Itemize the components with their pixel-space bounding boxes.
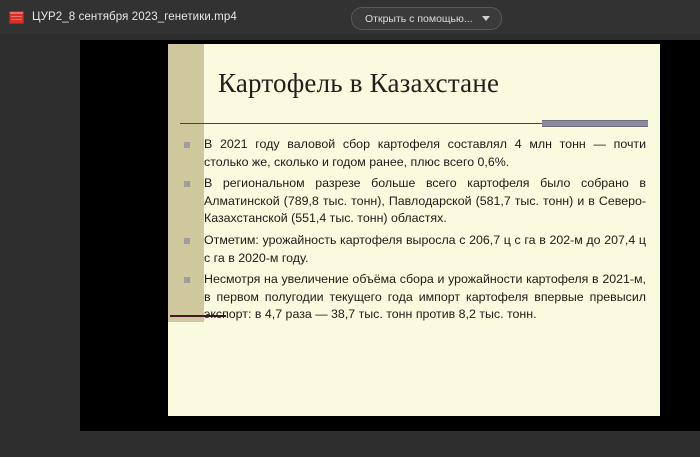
bullet-marker-icon — [184, 142, 190, 148]
presentation-slide: Картофель в Казахстане В 2021 году валов… — [168, 44, 660, 416]
video-stage[interactable]: Картофель в Казахстане В 2021 году валов… — [80, 40, 700, 431]
file-name-label: ЦУР2_8 сентября 2023_генетики.mp4 — [32, 11, 237, 23]
file-chip: ЦУР2_8 сентября 2023_генетики.mp4 — [9, 11, 237, 24]
title-divider-cap — [542, 120, 648, 127]
bullet-item: В 2021 году валовой сбор картофеля соста… — [180, 136, 646, 171]
bullet-marker-icon — [184, 277, 190, 283]
bullet-text: Отметим: урожайность картофеля выросла с… — [204, 233, 646, 265]
media-viewer-window: ЦУР2_8 сентября 2023_генетики.mp4 Открыт… — [0, 0, 700, 457]
bullet-item: В региональном разрезе больше всего карт… — [180, 175, 646, 228]
slide-title: Картофель в Казахстане — [218, 68, 638, 99]
chevron-down-icon — [482, 16, 490, 21]
title-bar: ЦУР2_8 сентября 2023_генетики.mp4 Открыт… — [0, 0, 700, 34]
slide-bullet-list: В 2021 году валовой сбор картофеля соста… — [180, 136, 646, 324]
bullet-text: В 2021 году валовой сбор картофеля соста… — [204, 137, 646, 169]
bullet-marker-icon — [184, 238, 190, 244]
open-with-button[interactable]: Открыть с помощью... — [351, 7, 502, 30]
bullet-text: Несмотря на увеличение объёма сбора и ур… — [204, 272, 646, 321]
window-bottom-chrome — [0, 431, 700, 457]
bullet-item: Несмотря на увеличение объёма сбора и ур… — [180, 271, 646, 324]
bullet-item: Отметим: урожайность картофеля выросла с… — [180, 232, 646, 267]
bullet-text: В региональном разрезе больше всего карт… — [204, 176, 646, 225]
bullet-marker-icon — [184, 181, 190, 187]
media-file-icon — [9, 11, 24, 24]
open-with-label: Открыть с помощью... — [365, 13, 473, 25]
